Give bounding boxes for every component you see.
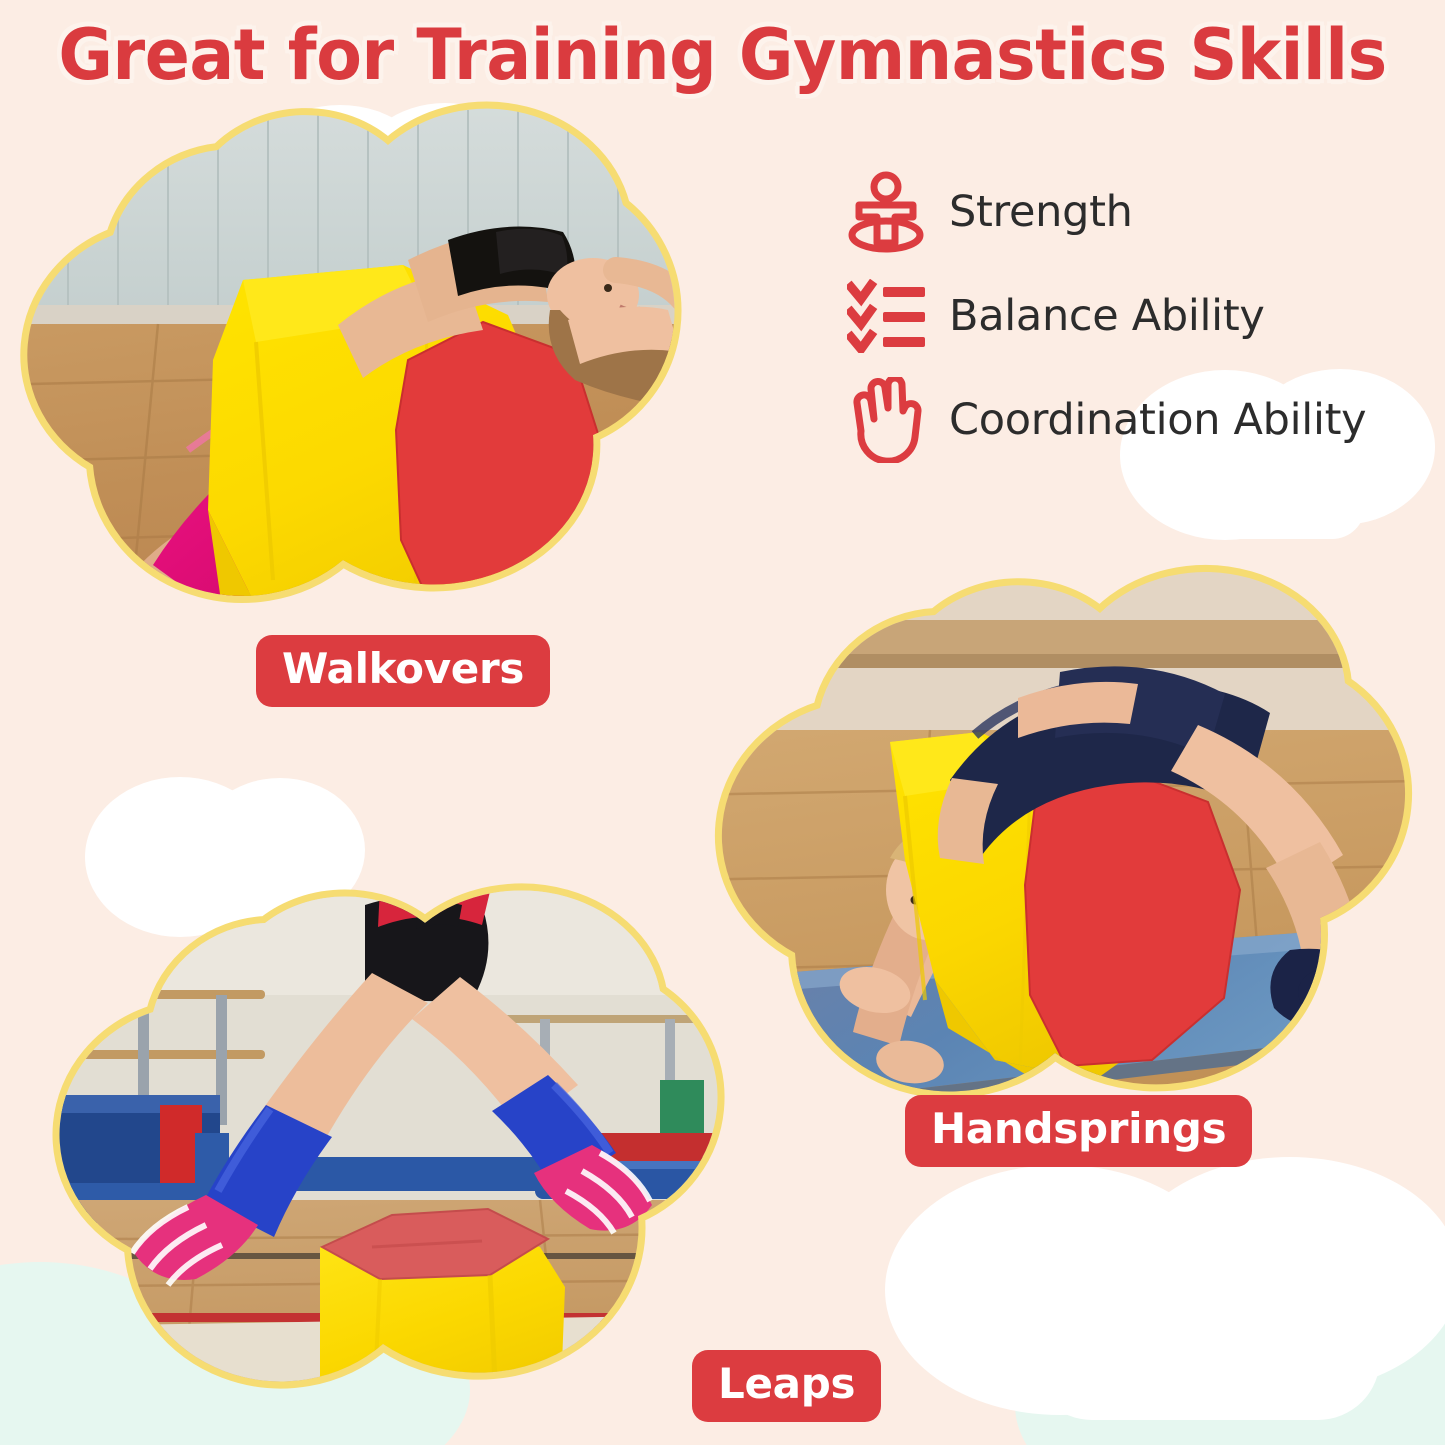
open-hand-icon xyxy=(845,377,927,463)
caption-badge-handsprings: Handsprings xyxy=(905,1095,1252,1167)
feature-list: Strength Balance Ability xyxy=(845,160,1445,472)
photo-handsprings xyxy=(700,580,1440,1170)
feature-label-coordination: Coordination Ability xyxy=(949,395,1366,445)
photo-leaps xyxy=(20,895,810,1435)
caption-badge-walkovers: Walkovers xyxy=(256,635,550,707)
balance-figure-icon xyxy=(845,169,927,255)
decorative-cloud-bottom-white xyxy=(880,1130,1445,1420)
decorative-cloud-bottom-mint-right xyxy=(1010,1265,1445,1445)
photo-walkovers xyxy=(8,110,688,640)
feature-label-strength: Strength xyxy=(949,187,1133,237)
feature-row-strength: Strength xyxy=(845,160,1445,264)
photo-card-walkovers xyxy=(8,110,688,640)
caption-badge-leaps: Leaps xyxy=(692,1350,881,1422)
photo-card-leaps xyxy=(20,895,810,1435)
photo-card-handsprings xyxy=(700,580,1440,1170)
feature-row-balance: Balance Ability xyxy=(845,264,1445,368)
page-title: Great for Training Gymnastics Skills xyxy=(36,14,1409,96)
feature-label-balance: Balance Ability xyxy=(949,291,1265,341)
marketing-infographic: Great for Training Gymnastics Skills xyxy=(0,0,1445,1445)
checklist-icon xyxy=(845,273,927,359)
feature-row-coordination: Coordination Ability xyxy=(845,368,1445,472)
